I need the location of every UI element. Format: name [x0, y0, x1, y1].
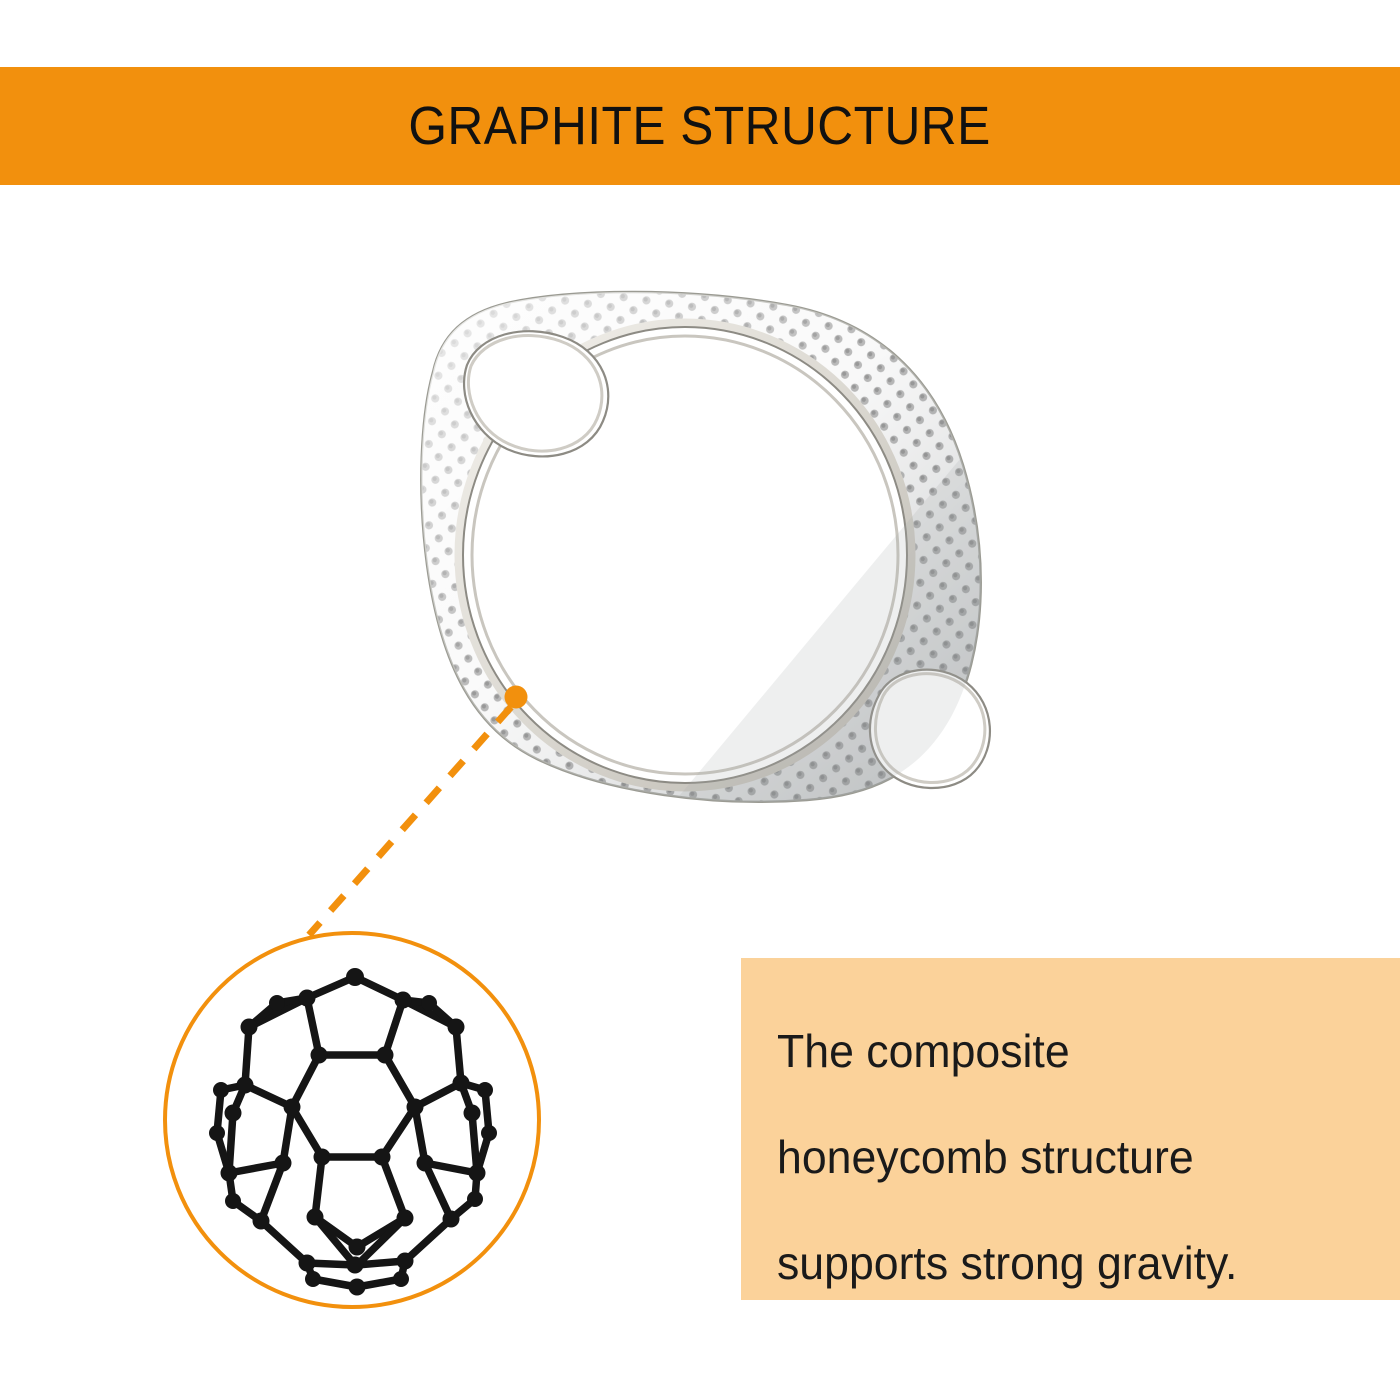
infographic-page: GRAPHITE STRUCTURE	[0, 0, 1400, 1400]
fullerene-atoms	[209, 968, 497, 1296]
header-banner: GRAPHITE STRUCTURE	[0, 67, 1400, 185]
description-line-3: supports strong gravity.	[777, 1210, 1348, 1316]
molecule-magnifier-circle	[163, 931, 541, 1309]
page-title: GRAPHITE STRUCTURE	[409, 99, 991, 153]
description-line-2: honeycomb structure	[777, 1104, 1348, 1210]
fullerene-icon	[167, 935, 537, 1305]
gasket-product-image	[355, 265, 1005, 825]
description-card: The composite honeycomb structure suppor…	[741, 958, 1400, 1300]
description-line-1: The composite	[777, 998, 1348, 1104]
